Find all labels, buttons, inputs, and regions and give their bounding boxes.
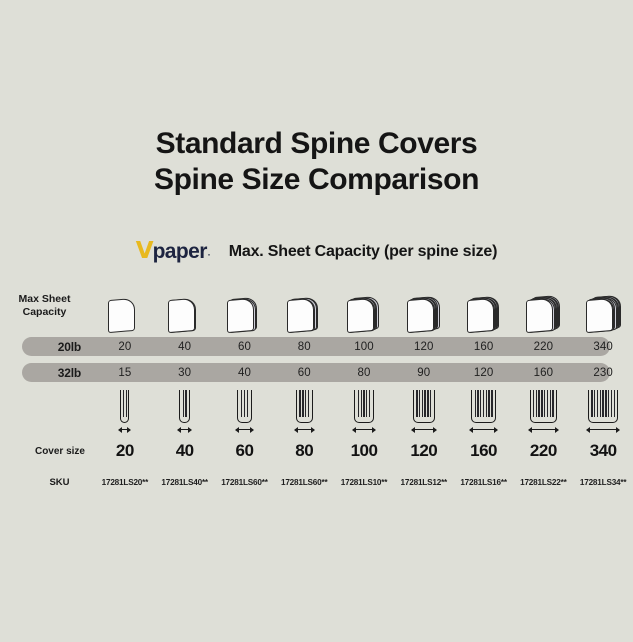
subtitle: Max. Sheet Capacity (per spine size) xyxy=(229,243,497,261)
page-title: Standard Spine Covers Spine Size Compari… xyxy=(0,126,633,198)
capacity-value-20lb: 80 xyxy=(298,341,311,353)
table-cell: 40 xyxy=(155,341,215,353)
table-cell: 17281LS60** xyxy=(215,478,275,487)
capacity-row-20lb: 20lb 20406080100120160220340 xyxy=(0,336,633,358)
capacity-value-32lb: 40 xyxy=(238,367,251,379)
title-line-2: Spine Size Comparison xyxy=(0,162,633,198)
cover-size-value: 100 xyxy=(351,441,378,461)
cover-size-value: 80 xyxy=(295,441,313,461)
cover-size-value: 220 xyxy=(530,441,557,461)
table-cell xyxy=(95,280,155,332)
paper-stack-icon xyxy=(281,280,327,332)
max-sheet-capacity-label: Max Sheet Capacity xyxy=(0,293,95,319)
capacity-row-32lb: 32lb 153040608090120160230 xyxy=(0,362,633,384)
capacity-value-32lb: 15 xyxy=(118,367,131,379)
table-cell xyxy=(454,389,514,433)
cover-size-row: Cover size 20406080100120160220340 xyxy=(0,438,633,464)
row-label-32lb: 32lb xyxy=(0,367,95,380)
spine-binder-icon xyxy=(158,389,212,433)
table-cell: 340 xyxy=(573,441,633,461)
capacity-value-32lb: 90 xyxy=(417,367,430,379)
table-cell xyxy=(513,280,573,332)
cover-size-value: 160 xyxy=(470,441,497,461)
sku-value: 17281LS22** xyxy=(520,478,567,487)
paper-stack-icon xyxy=(520,280,566,332)
max-sheet-capacity-label-line1: Max Sheet xyxy=(0,293,89,306)
capacity-value-20lb: 60 xyxy=(238,341,251,353)
paper-stack-icon xyxy=(162,280,208,332)
width-arrow-icon xyxy=(587,426,619,433)
sku-value: 17281LS16** xyxy=(460,478,507,487)
sku-label: SKU xyxy=(0,476,95,489)
table-cell xyxy=(394,280,454,332)
paper-stack-icon xyxy=(341,280,387,332)
table-cell: 20 xyxy=(95,341,155,353)
capacity-value-32lb: 60 xyxy=(298,367,311,379)
cover-size-value: 20 xyxy=(116,441,134,461)
capacity-value-20lb: 120 xyxy=(414,341,434,353)
table-cell xyxy=(334,280,394,332)
sku-value: 17281LS60** xyxy=(281,478,328,487)
paper-stack-icon xyxy=(461,280,507,332)
table-cell xyxy=(155,389,215,433)
paper-stack-icon xyxy=(401,280,447,332)
cover-size-value: 340 xyxy=(590,441,617,461)
sku-value: 17281LS20** xyxy=(102,478,149,487)
table-cell: 340 xyxy=(573,341,633,353)
capacity-value-20lb: 160 xyxy=(474,341,494,353)
table-cell: 17281LS10** xyxy=(334,478,394,487)
cover-size-value: 120 xyxy=(410,441,437,461)
vpaper-logo: Vpaper· xyxy=(136,240,211,263)
table-cell: 80 xyxy=(274,441,334,461)
spine-binder-icon xyxy=(217,389,271,433)
capacity-value-32lb: 120 xyxy=(474,367,494,379)
table-cell: 220 xyxy=(513,341,573,353)
paper-stack-icon xyxy=(102,280,148,332)
spine-binder-icon xyxy=(457,389,511,433)
table-cell xyxy=(95,389,155,433)
spine-binder-icon xyxy=(337,389,391,433)
spine-binder-icon xyxy=(277,389,331,433)
sku-row: SKU 17281LS20**17281LS40**17281LS60**172… xyxy=(0,472,633,492)
table-cell: 40 xyxy=(155,441,215,461)
table-cell xyxy=(454,280,514,332)
table-cell: 17281LS22** xyxy=(513,478,573,487)
sku-value: 17281LS12** xyxy=(401,478,448,487)
capacity-value-20lb: 220 xyxy=(534,341,554,353)
table-cell: 100 xyxy=(334,341,394,353)
table-cell: 120 xyxy=(394,441,454,461)
width-arrow-icon xyxy=(236,426,252,433)
sku-value: 17281LS10** xyxy=(341,478,388,487)
capacity-value-20lb: 20 xyxy=(118,341,131,353)
table-cell: 80 xyxy=(334,367,394,379)
width-arrow-icon xyxy=(412,426,436,433)
table-cell xyxy=(155,280,215,332)
table-cell: 17281LS60** xyxy=(274,478,334,487)
row-label-20lb: 20lb xyxy=(0,341,95,354)
cover-size-label: Cover size xyxy=(0,445,95,458)
capacity-value-20lb: 100 xyxy=(354,341,374,353)
cover-size-value: 60 xyxy=(235,441,253,461)
table-cell: 100 xyxy=(334,441,394,461)
sku-value: 17281LS40** xyxy=(161,478,208,487)
table-cell: 160 xyxy=(454,341,514,353)
table-cell xyxy=(394,389,454,433)
table-cell xyxy=(215,389,275,433)
width-arrow-icon xyxy=(353,426,374,433)
table-cell: 30 xyxy=(155,367,215,379)
table-cell xyxy=(573,280,633,332)
width-arrow-icon xyxy=(119,426,130,433)
table-cell: 17281LS20** xyxy=(95,478,155,487)
table-cell: 90 xyxy=(394,367,454,379)
max-sheet-capacity-label-line2: Capacity xyxy=(0,306,89,319)
table-cell: 40 xyxy=(215,367,275,379)
table-cell: 80 xyxy=(274,341,334,353)
table-cell xyxy=(513,389,573,433)
table-cell xyxy=(215,280,275,332)
paper-stack-row: Max Sheet Capacity xyxy=(0,278,633,334)
table-cell: 230 xyxy=(573,367,633,379)
cover-size-value: 40 xyxy=(176,441,194,461)
table-cell xyxy=(573,389,633,433)
table-cell: 160 xyxy=(513,367,573,379)
width-arrow-icon xyxy=(529,426,558,433)
table-cell: 17281LS40** xyxy=(155,478,215,487)
spine-binder-icon xyxy=(397,389,451,433)
width-arrow-icon xyxy=(178,426,192,433)
table-cell: 60 xyxy=(215,441,275,461)
table-cell: 120 xyxy=(394,341,454,353)
table-cell xyxy=(274,389,334,433)
table-cell: 17281LS34** xyxy=(573,478,633,487)
title-line-1: Standard Spine Covers xyxy=(0,126,633,162)
paper-stack-icon xyxy=(221,280,267,332)
capacity-value-32lb: 230 xyxy=(593,367,613,379)
paper-stack-icon xyxy=(580,280,626,332)
table-cell xyxy=(334,389,394,433)
comparison-table: Max Sheet Capacity 20lb 2040608010012016… xyxy=(0,270,633,510)
logo-trademark-icon: · xyxy=(208,251,211,260)
legend-row: Vpaper· Max. Sheet Capacity (per spine s… xyxy=(0,240,633,263)
table-cell xyxy=(274,280,334,332)
logo-wordmark: paper xyxy=(153,241,207,262)
table-cell: 160 xyxy=(454,441,514,461)
capacity-value-32lb: 80 xyxy=(358,367,371,379)
width-arrow-icon xyxy=(295,426,314,433)
capacity-value-20lb: 340 xyxy=(593,341,613,353)
table-cell: 60 xyxy=(274,367,334,379)
sku-value: 17281LS60** xyxy=(221,478,268,487)
table-cell: 20 xyxy=(95,441,155,461)
spine-icon-row xyxy=(0,388,633,434)
capacity-value-20lb: 40 xyxy=(178,341,191,353)
sku-value: 17281LS34** xyxy=(580,478,627,487)
table-cell: 17281LS12** xyxy=(394,478,454,487)
spine-binder-icon xyxy=(576,389,630,433)
logo-v-icon: V xyxy=(136,240,153,263)
table-cell: 120 xyxy=(454,367,514,379)
width-arrow-icon xyxy=(470,426,497,433)
table-cell: 17281LS16** xyxy=(454,478,514,487)
table-cell: 15 xyxy=(95,367,155,379)
spine-binder-icon xyxy=(516,389,570,433)
table-cell: 60 xyxy=(215,341,275,353)
spine-binder-icon xyxy=(98,389,152,433)
capacity-value-32lb: 30 xyxy=(178,367,191,379)
capacity-value-32lb: 160 xyxy=(534,367,554,379)
table-cell: 220 xyxy=(513,441,573,461)
